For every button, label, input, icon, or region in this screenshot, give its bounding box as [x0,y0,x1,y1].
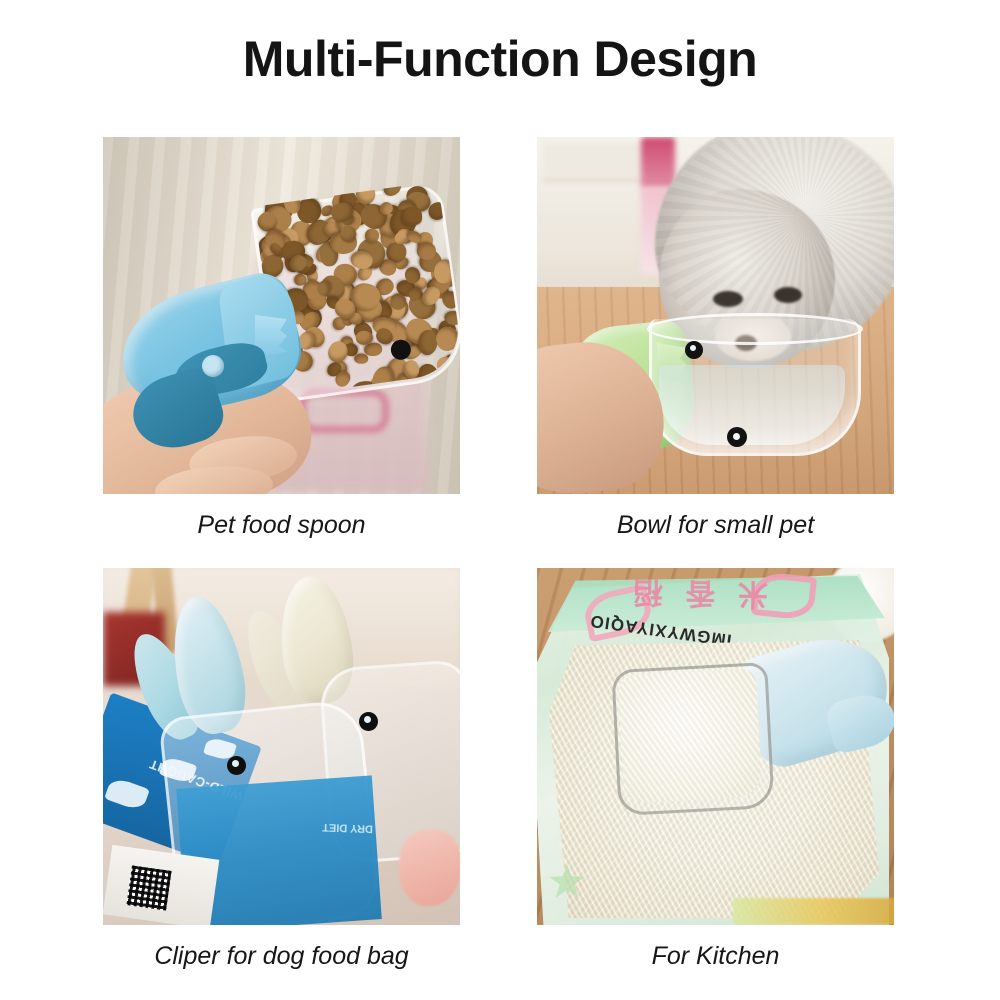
photo-for-kitchen: 米 香 稻 IMGWYXIYAQIO [537,568,894,925]
page-title: Multi-Function Design [0,32,1000,87]
caption-bowl-for-small-pet: Bowl for small pet [537,510,894,540]
scoop-pivot [202,355,224,377]
cat-eye-right [774,287,802,303]
photo-pet-food-spoon [103,137,460,494]
bag-bottom-stripe [733,898,894,925]
caption-for-kitchen: For Kitchen [537,941,894,971]
wall-panel [543,143,647,182]
photo-bowl-for-small-pet [537,137,894,494]
water [659,365,845,445]
pink-object [399,830,460,906]
clip-dot-cream [359,712,378,731]
qr-code [126,865,171,910]
clip-dot-blue [227,756,246,775]
caption-pet-food-spoon: Pet food spoon [103,510,460,540]
feature-cell-for-kitchen: 米 香 稻 IMGWYXIYAQIO For Kitchen [537,568,894,971]
bag-decorative-characters: 米 香 稻 [627,573,769,619]
feature-grid: Pet food spoon Bowl fo [103,137,897,967]
feature-cell-cliper-for-dog-food-bag: WILD-CAUGHT DRY DIET Cliper for dog food… [103,568,460,971]
cat-eye-left [713,291,743,307]
photo-cliper-for-dog-food-bag: WILD-CAUGHT DRY DIET [103,568,460,925]
bowl-rim [647,313,863,345]
bowl-dot-lower [727,427,747,447]
scoop-rice-texture [618,668,763,803]
caption-cliper-for-dog-food-bag: Cliper for dog food bag [103,941,460,971]
pink-object [641,137,675,189]
feature-cell-bowl-for-small-pet: Bowl for small pet [537,137,894,540]
feature-cell-pet-food-spoon: Pet food spoon [103,137,460,540]
bowl-dot-upper [685,341,703,359]
